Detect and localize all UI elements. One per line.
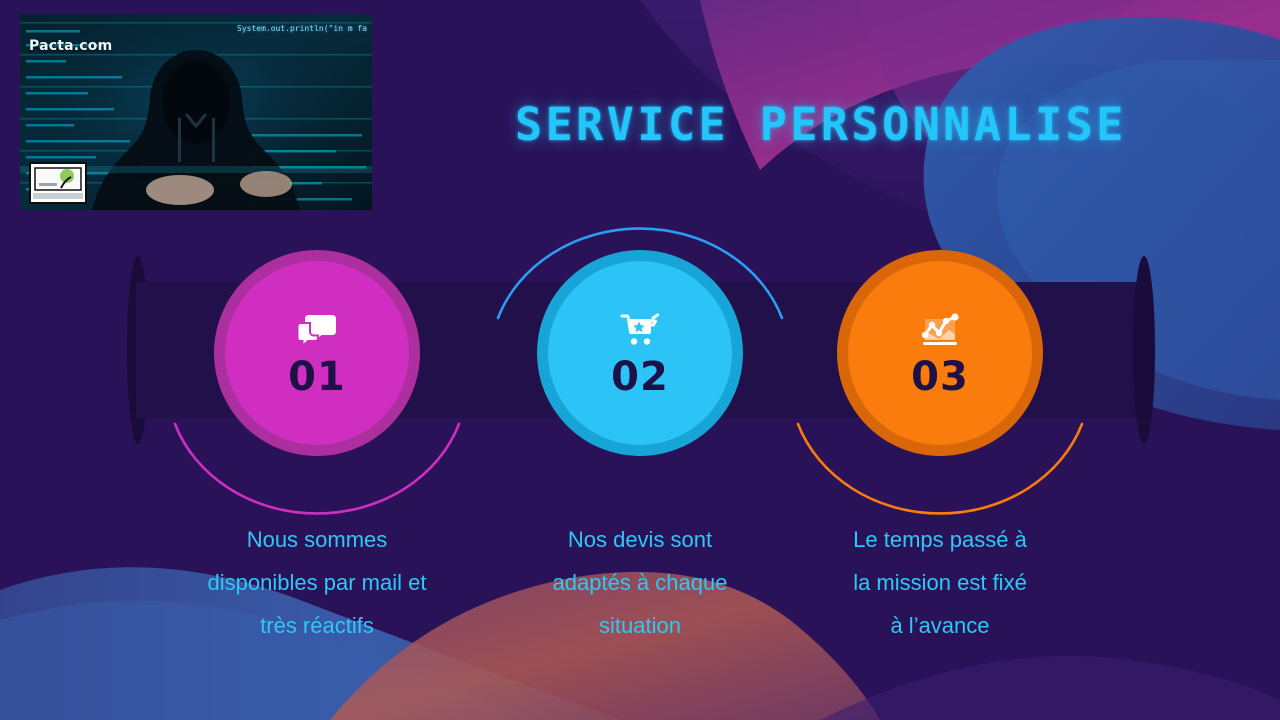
caption-line: situation: [478, 604, 802, 647]
step-2: 02 Nos devis sont adaptés à chaque situa…: [490, 0, 790, 720]
step-circle-1[interactable]: 01: [214, 250, 420, 456]
caption-line: Nos devis sont: [478, 518, 802, 561]
caption-line: disponibles par mail et: [155, 561, 479, 604]
chat-bubbles-icon: [296, 309, 338, 351]
step-number-2: 02: [611, 357, 669, 397]
caption-line: Nous sommes: [155, 518, 479, 561]
caption-line: la mission est fixé: [778, 561, 1102, 604]
slide-canvas: Pacta.com System.out.println("in m false…: [0, 0, 1280, 720]
caption-line: à l’avance: [778, 604, 1102, 647]
step-number-1: 01: [288, 357, 346, 397]
broken-image-icon: [29, 162, 87, 204]
caption-line: adaptés à chaque: [478, 561, 802, 604]
step-3: 03 Le temps passé à la mission est fixé …: [790, 0, 1090, 720]
tube-end-cap-right: [1133, 256, 1155, 444]
step-caption-1: Nous sommes disponibles par mail et très…: [155, 518, 479, 647]
step-number-3: 03: [911, 357, 969, 397]
caption-line: très réactifs: [155, 604, 479, 647]
step-caption-3: Le temps passé à la mission est fixé à l…: [778, 518, 1102, 647]
step-caption-2: Nos devis sont adaptés à chaque situatio…: [478, 518, 802, 647]
step-1: 01 Nous sommes disponibles par mail et t…: [167, 0, 467, 720]
line-chart-icon: [919, 309, 961, 351]
step-circle-2[interactable]: 02: [537, 250, 743, 456]
step-circle-3[interactable]: 03: [837, 250, 1043, 456]
caption-line: Le temps passé à: [778, 518, 1102, 561]
thumbnail-watermark: Pacta.com: [29, 38, 112, 54]
shopping-cart-star-icon: [619, 309, 661, 351]
